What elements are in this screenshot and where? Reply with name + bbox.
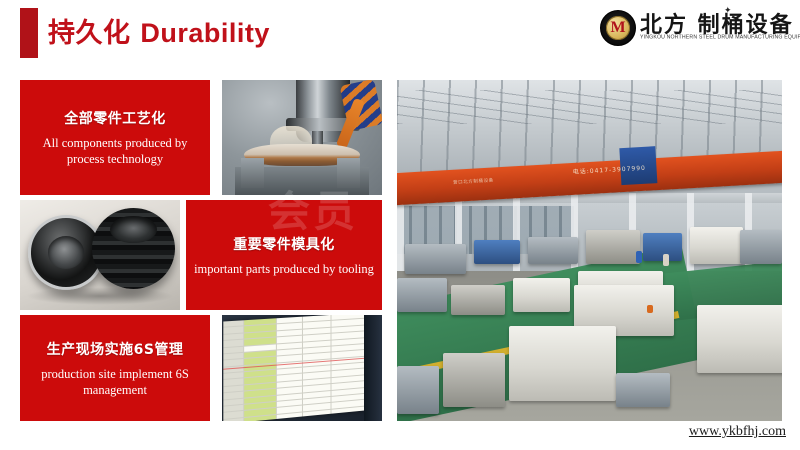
feature-panel-3-en: production site implement 6S management <box>28 366 202 398</box>
seal-ring-right <box>92 208 175 289</box>
feature-panel-1-en: All components produced by process techn… <box>28 135 202 167</box>
seal-drop-shadow <box>26 287 173 305</box>
worker <box>636 251 642 263</box>
sparkle-icon: ✦ <box>724 6 732 14</box>
machine-unit <box>586 230 640 264</box>
worker <box>663 254 669 266</box>
page-title-en: Durability <box>140 18 270 48</box>
seal-ring-right-bore <box>110 216 157 244</box>
slide-root: 持久化 Durability M 北方 制桶设备 ✦ YINGKOU NORTH… <box>0 0 800 450</box>
logo-medallion-icon: M <box>600 10 636 46</box>
feature-panel-2: 重要零件模具化 important parts produced by tool… <box>186 200 382 310</box>
logo-brand-sub-en: YINGKOU NORTHERN STEEL DRUM MANUFACTURIN… <box>640 34 800 40</box>
title-accent-bar <box>20 8 38 58</box>
photo-cnc-milling <box>222 80 382 195</box>
machine-unit <box>397 278 447 312</box>
machine-unit <box>474 240 520 264</box>
factory-roof-purlins <box>397 90 782 124</box>
machine-unit <box>405 244 467 275</box>
photo-6s-spreadsheet <box>222 315 382 421</box>
seal-ring-left-bore <box>48 236 85 269</box>
spreadsheet-monitor-screen <box>224 315 368 421</box>
pallet-stack <box>443 353 505 408</box>
feature-panel-3-cn: 生产现场实施6S管理 <box>47 339 184 359</box>
feature-panel-2-cn: 重要零件模具化 <box>233 234 335 254</box>
page-title: 持久化 Durability <box>48 11 270 50</box>
feature-panel-3: 生产现场实施6S管理 production site implement 6S … <box>20 315 210 421</box>
feature-panel-2-en: important parts produced by tooling <box>194 261 374 277</box>
feature-panel-1: 全部零件工艺化 All components produced by proce… <box>20 80 210 195</box>
photo-seal-rings <box>20 200 180 310</box>
machine-unit <box>690 227 744 265</box>
page-title-cn: 持久化 <box>48 18 131 49</box>
feature-panel-1-cn: 全部零件工艺化 <box>64 108 166 128</box>
spreadsheet-rows <box>224 315 368 421</box>
work-table <box>616 373 670 407</box>
machine-unit <box>528 237 578 264</box>
worker <box>647 305 653 313</box>
photo-factory-workshop: 电话:0417-3907990 营口北方制桶设备 <box>397 80 782 421</box>
steel-cart <box>397 366 439 414</box>
crane-company-text: 营口北方制桶设备 <box>453 177 494 185</box>
cnc-machine-right <box>697 305 782 373</box>
footer-website-link[interactable]: www.ykbfhj.com <box>689 424 786 440</box>
machine-unit <box>451 285 505 316</box>
cnc-machine-front <box>509 326 617 401</box>
slide-header: 持久化 Durability M 北方 制桶设备 ✦ YINGKOU NORTH… <box>0 0 800 60</box>
milling-clamp-right <box>337 158 359 188</box>
company-logo: M 北方 制桶设备 ✦ YINGKOU NORTHERN STEEL DRUM … <box>598 4 794 50</box>
machine-unit <box>513 278 571 312</box>
monitor-bezel <box>364 315 382 421</box>
logo-medallion-letter: M <box>610 20 625 36</box>
milling-clamp-left <box>241 158 263 188</box>
machine-unit <box>740 230 782 264</box>
logo-medallion-gold-disc: M <box>606 16 630 40</box>
